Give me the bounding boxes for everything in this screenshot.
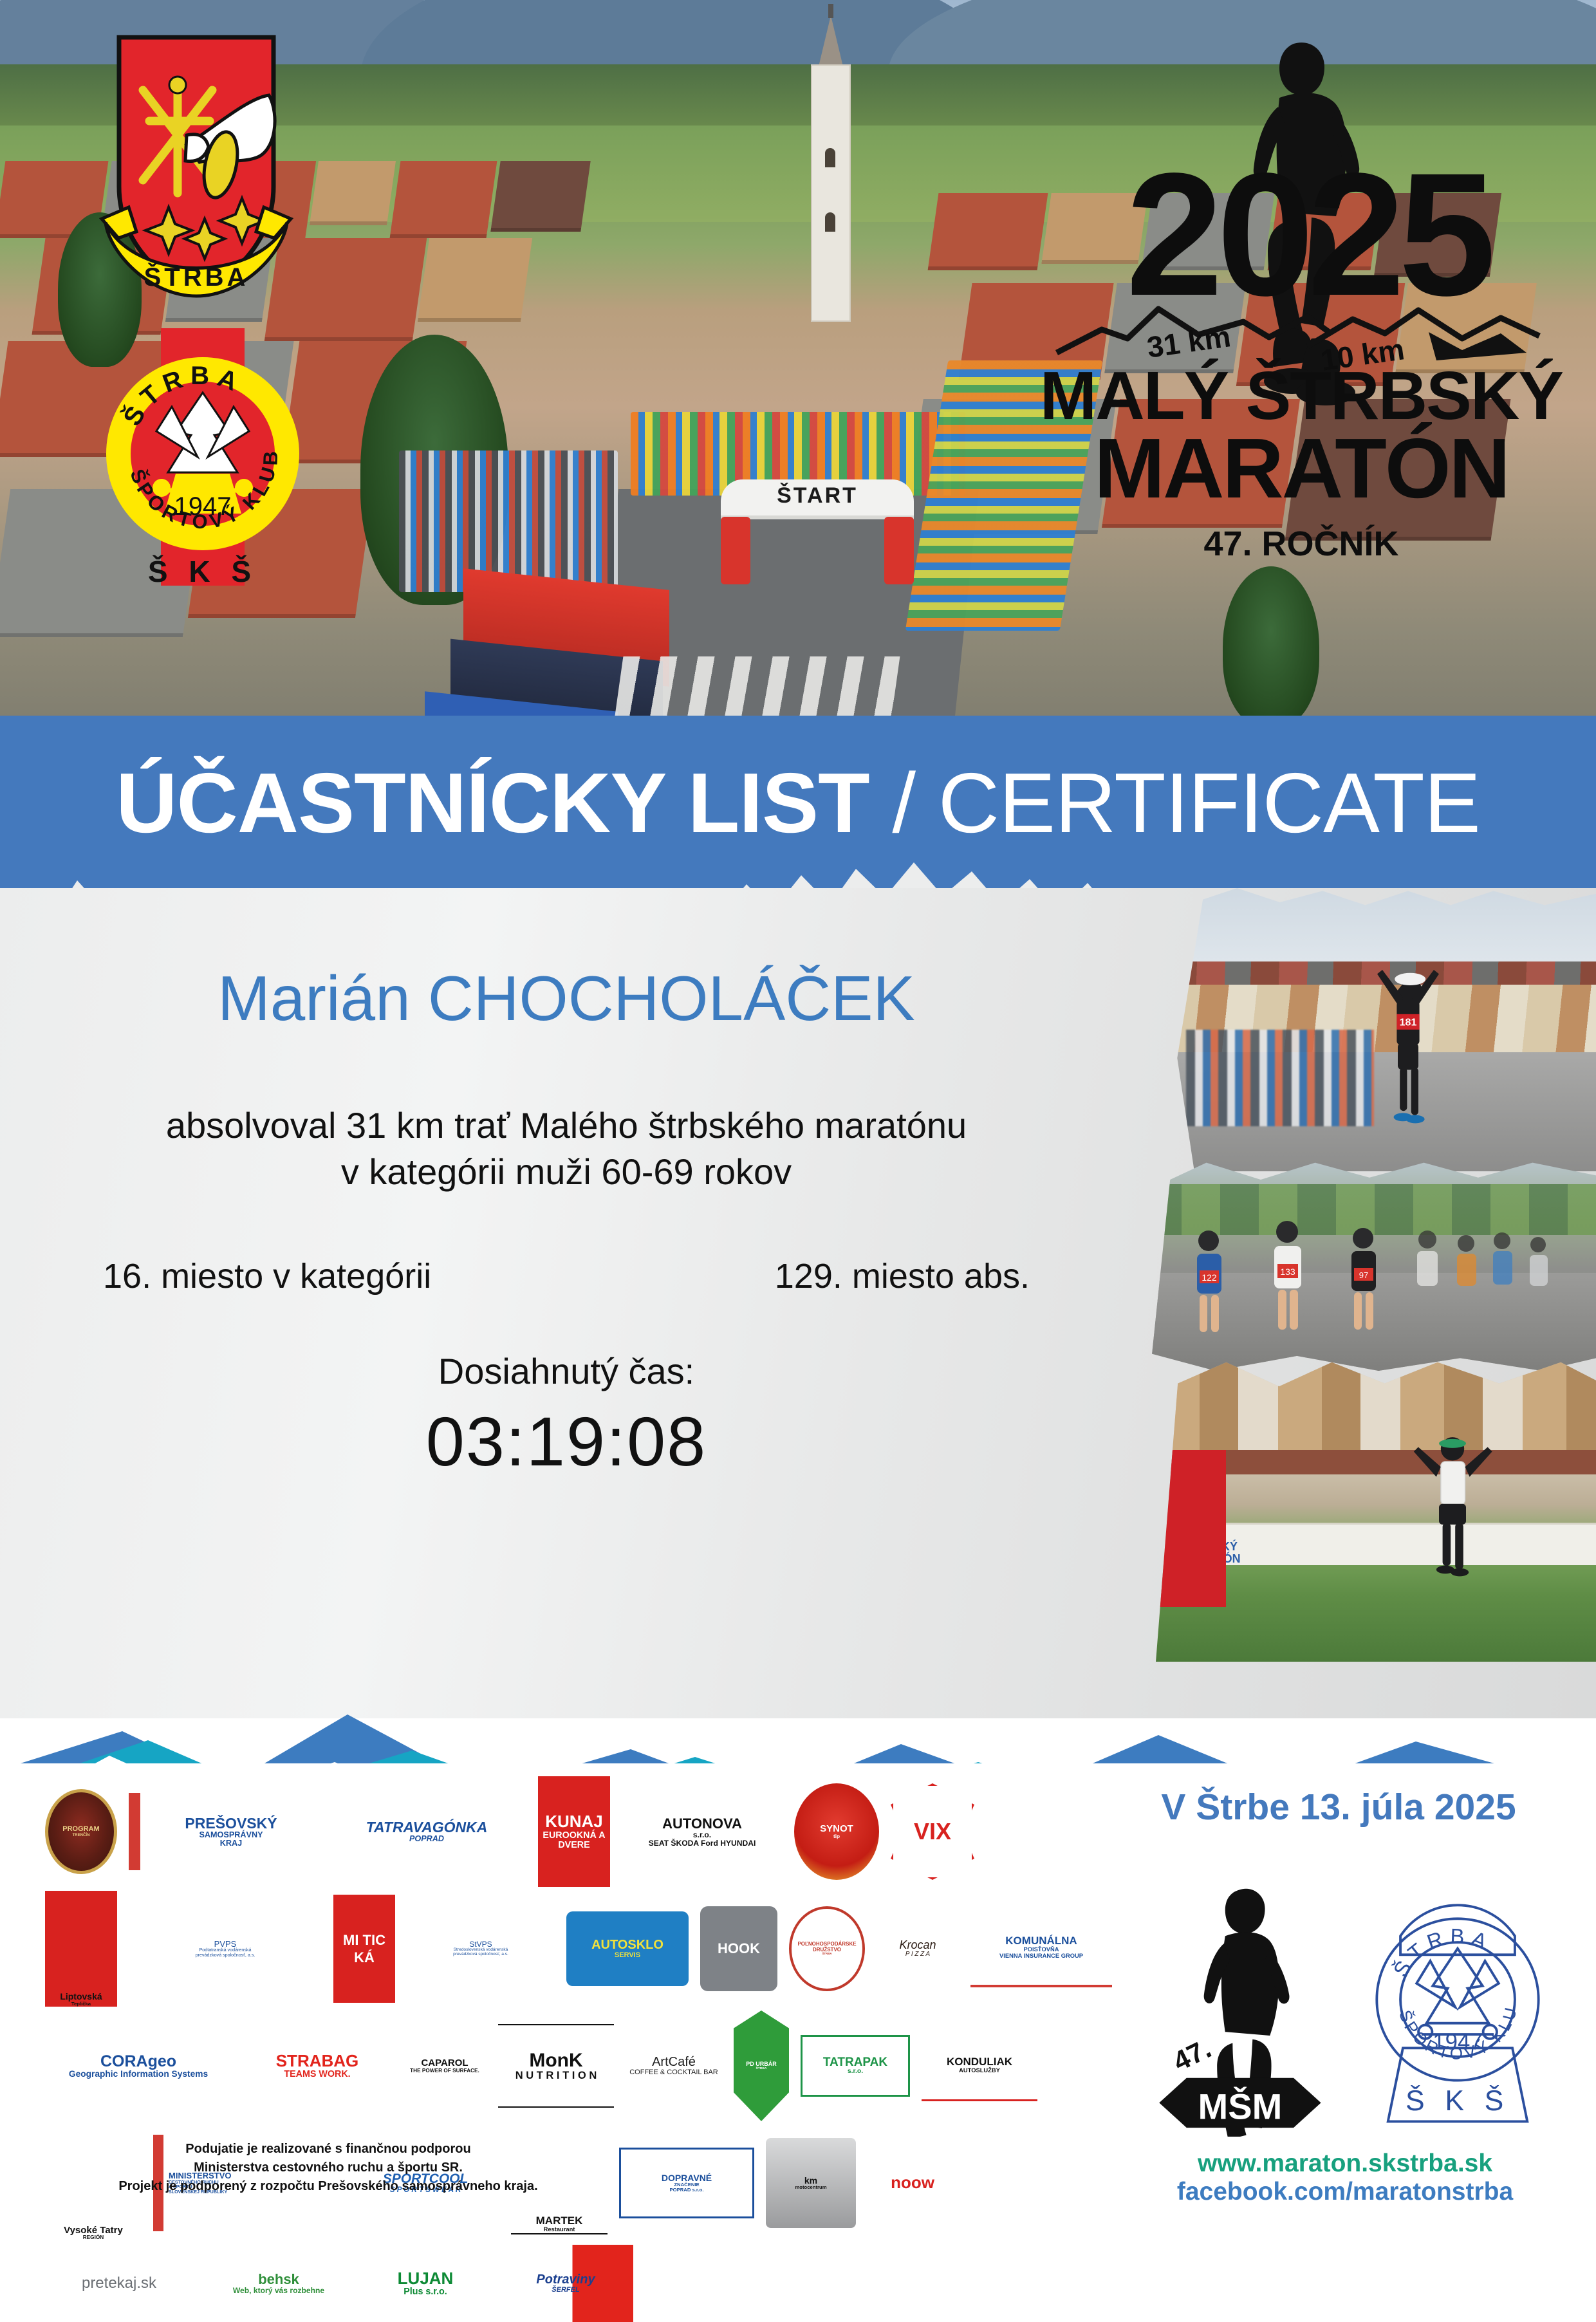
sponsor-logo-text: SAMOSPRÁVNY [199, 1831, 263, 1839]
start-arch: ŠTART [721, 479, 914, 582]
sponsor-logo-text: REGIÓN [83, 2235, 104, 2241]
disclaimer-line-1: Podujatie je realizované s finančnou pod… [39, 2140, 618, 2159]
sponsor-logo-text: prevádzková spoločnosť, a.s. [196, 1953, 255, 1958]
sponsor-logo-text: PD URBÁR [746, 2061, 777, 2067]
sponsor-logo: PotravinyŠERFEL [498, 2245, 633, 2322]
sponsor-logo-text: Potraviny [536, 2273, 595, 2287]
sponsor-logo-text: ArtCafé [652, 2056, 696, 2069]
red-flag [1156, 1450, 1226, 1607]
sponsor-logo: noow [868, 2144, 958, 2222]
event-title-line2: MARATÓN [1025, 426, 1578, 511]
sponsor-logo-text: AUTONOVA [662, 1816, 742, 1831]
sks-emblem-footer: 1947 ŠTRBA ŠPORTOVÝ KLUB Š K Š [1364, 1860, 1551, 2137]
sponsor-logo-text: THE POWER OF SURFACE. [410, 2068, 479, 2074]
sponsor-logo-text: CORAgeo [100, 2053, 176, 2070]
sponsor-row-2: LiptovskáTepličkaPVPSPodtatranská vodáre… [45, 1891, 1113, 2007]
finish-time-value: 03:19:08 [0, 1401, 1133, 1481]
sks-club-logo: 1947 ŠTRBA ŠPORTOVÝ KLUB Š K Š [100, 322, 306, 592]
svg-text:122: 122 [1202, 1272, 1217, 1283]
sponsor-logo-text: KOMUNÁLNA [1005, 1935, 1077, 1947]
sponsor-logo-text: tip [833, 1834, 840, 1840]
svg-text:Š K Š: Š K Š [148, 555, 257, 588]
sponsor-logo-text: LUJAN [398, 2270, 454, 2287]
sponsor-logo: AUTOSKLOSERVIS [566, 1911, 689, 1986]
svg-text:97: 97 [1359, 1270, 1368, 1280]
svg-text:181: 181 [1400, 1017, 1417, 1028]
sponsor-logo: StVPSStredoslovenská vodárenskáprevádzko… [407, 1900, 555, 1997]
sponsor-logo: KrocanP I Z Z A [877, 1906, 959, 1991]
sponsor-logo-text: MonK [529, 2050, 582, 2071]
start-arch-label: ŠTART [721, 483, 914, 508]
hero-photo: ŠTART [0, 0, 1596, 740]
sponsor-logo: VIX [891, 1783, 974, 1880]
photo-collage: 181 122 [1133, 882, 1596, 1725]
sponsor-logo-text: TATRAPAK [823, 2056, 887, 2069]
sponsor-row-5: pretekaj.skbehskWeb, ktorý vás rozbehneL… [45, 2245, 1113, 2322]
sponsor-logo-text: CAPAROL [421, 2058, 468, 2068]
facebook-link[interactable]: facebook.com/maratonstrba [1139, 2178, 1551, 2206]
sponsor-logo: POĽNOHOSPODÁRSKE DRUŽSTVOŠTRBA [789, 1906, 865, 1991]
sponsor-logo-text: prevádzková spoločnosť, a.s. [453, 1953, 508, 1957]
contact-links: www.maraton.skstrba.sk facebook.com/mara… [1139, 2150, 1551, 2206]
photo-female-finisher: 181 [1169, 888, 1596, 1171]
sponsor-logo-text: Liptovská [60, 1992, 102, 2002]
sponsor-logo-text: MI TIC KÁ [333, 1931, 395, 1967]
placements-row: 16. miesto v kategórii 129. miesto abs. [0, 1256, 1133, 1296]
sponsor-logo: ArtCaféCOFFEE & COCKTAIL BAR [626, 2011, 722, 2121]
certificate-description: absolvoval 31 km trať Malého štrbského m… [0, 1102, 1133, 1194]
crowd-spectators [399, 450, 618, 592]
sponsor-logo-text: noow [891, 2174, 934, 2191]
certificate-text-column: Marián CHOCHOLÁČEK absolvoval 31 km trať… [0, 965, 1133, 1481]
sponsor-logo-text: STRABAG [276, 2052, 359, 2070]
svg-text:ŠTRBA: ŠTRBA [144, 262, 249, 292]
svg-text:133: 133 [1280, 1267, 1295, 1277]
sponsor-logo: PD URBÁRŠTRBA [734, 2011, 789, 2121]
sponsor-logo-text: ŠTRBA [822, 1953, 831, 1956]
sponsor-logo: KOMUNÁLNAPOISŤOVŇAVIENNA INSURANCE GROUP [970, 1910, 1112, 1987]
photo-male-finisher: MALÝŠTRBSKÝMARATÓN [1156, 1359, 1596, 1662]
sponsor-logo-text: km [804, 2176, 817, 2186]
funding-disclaimer: Podujatie je realizované s finančnou pod… [39, 2140, 618, 2196]
church-tower [792, 19, 869, 322]
sponsor-logo-text: ŠERFEL [552, 2287, 579, 2294]
msm-emblem: 47. MŠM [1146, 1860, 1332, 2137]
footer: V Štrbe 13. júla 2025 PROGRAMTRENČÍNPREŠ… [0, 1763, 1596, 2258]
sponsor-logo-text: TRENČÍN [73, 1834, 90, 1837]
sponsor-logo-text: SYNOT [820, 1824, 853, 1834]
sponsor-logo: pretekaj.sk [45, 2248, 193, 2319]
sponsor-logo-text: COFFEE & COCKTAIL BAR [629, 2069, 718, 2077]
website-link[interactable]: www.maraton.skstrba.sk [1139, 2150, 1551, 2178]
sponsor-logo-text: AUTOSLUŽBY [959, 2068, 1000, 2074]
sponsor-logo: KUNAJEUROOKNÁ A DVERE [538, 1776, 610, 1887]
disclaimer-line-2: Ministerstva cestovného ruchu a športu S… [39, 2159, 618, 2177]
sponsor-logo: SYNOTtip [794, 1783, 879, 1880]
sponsor-logo: LiptovskáTeplička [45, 1891, 117, 2007]
sponsor-logo-text: HOOK [718, 1941, 760, 1956]
sponsor-logo-text: Web, ktorý vás rozbehne [233, 2287, 324, 2295]
sponsor-logo-text: Plus s.r.o. [404, 2287, 447, 2297]
sponsor-logo: CAPAROLTHE POWER OF SURFACE. [403, 2011, 487, 2121]
sponsor-logo-text: DOPRAVNÉ [662, 2173, 712, 2183]
sponsor-logo-text: KUNAJ [545, 1813, 603, 1830]
event-edition: 47. ROČNÍK [1025, 524, 1578, 564]
sponsor-logo-text: Restaurant [544, 2227, 575, 2233]
sponsor-logo: TATRAVAGÓNKAPOPRAD [327, 1794, 526, 1870]
place-absolute: 129. miesto abs. [775, 1256, 1030, 1296]
sponsor-logo-text: EUROOKNÁ A DVERE [538, 1831, 610, 1850]
sponsor-logo-text: VIENNA INSURANCE GROUP [999, 1953, 1083, 1960]
sponsor-logo-text: Geographic Information Systems [69, 2070, 208, 2079]
sponsor-logo: CORAgeoGeographic Information Systems [45, 2027, 232, 2104]
sponsor-logo: LUJANPlus s.r.o. [364, 2245, 487, 2322]
sks-abbr-footer: Š K Š [1406, 2085, 1510, 2117]
sponsor-logo-text: s.r.o. [693, 1831, 711, 1839]
sponsor-logo: kmmotocentrum [766, 2138, 856, 2228]
sponsor-logo-text: VIX [914, 1819, 951, 1844]
sponsor-logo-text: N U T R I T I O N [515, 2070, 597, 2081]
sponsor-logo-text: PROGRAM [62, 1826, 99, 1834]
sponsor-logo: PROGRAMTRENČÍN [45, 1789, 117, 1874]
description-line-1: absolvoval 31 km trať Malého štrbského m… [0, 1102, 1133, 1149]
sponsor-logo: PVPSPodtatranská vodárenskáprevádzková s… [129, 1910, 322, 1987]
sponsor-row-3: CORAgeoGeographic Information SystemsSTR… [45, 2011, 1113, 2121]
sponsor-logo-text: TEAMS WORK. [284, 2070, 350, 2079]
sponsor-logo-text: Krocan [899, 1939, 936, 1951]
photo-runner-group: 122 133 97 [1143, 1158, 1596, 1371]
participant-name: Marián CHOCHOLÁČEK [0, 965, 1133, 1032]
sponsor-logo-text: PVPS [214, 1940, 237, 1949]
sponsor-logo: TATRAPAKs.r.o. [801, 2035, 910, 2097]
sponsor-logo-text: POPRAD s.r.o. [670, 2187, 704, 2193]
strba-coat-of-arms: ŠTRBA [90, 26, 302, 302]
event-year: 2025 [1057, 156, 1559, 313]
title-separator: / [869, 756, 938, 850]
page-title: ÚČASTNÍCKY LIST / CERTIFICATE [0, 761, 1596, 846]
sponsor-logo: KONDULIAKAUTOSLUŽBY [922, 2030, 1037, 2101]
sponsor-logo-text: s.r.o. [848, 2068, 863, 2076]
msm-abbr: MŠM [1198, 2086, 1283, 2127]
sponsor-logo-text: ŠTRBA [756, 2067, 766, 2070]
sponsor-logo-text: KRAJ [220, 1839, 242, 1848]
sponsor-row-1: PROGRAMTRENČÍNPREŠOVSKÝSAMOSPRÁVNYKRAJTA… [45, 1776, 1113, 1887]
footer-emblems: 47. MŠM 1947 ŠTRBA [1139, 1860, 1551, 2156]
sponsor-logo-text: behsk [258, 2272, 299, 2287]
sponsor-logo-grid: PROGRAMTRENČÍNPREŠOVSKÝSAMOSPRÁVNYKRAJTA… [45, 1776, 1113, 2188]
event-logo: 2025 31 km 10 km MALÝ ŠTRBSKÝ MARATÓN 47… [1025, 33, 1578, 600]
sponsor-logo-text: TATRAVAGÓNKA [366, 1819, 488, 1835]
sponsor-logo: MI TIC KÁ [333, 1895, 395, 2003]
sponsor-logo-text: SEAT ŠKODA Ford HYUNDAI [649, 1839, 756, 1848]
description-line-2: v kategórii muži 60-69 rokov [0, 1149, 1133, 1195]
sponsor-logo: DOPRAVNÉZNAČENIEPOPRAD s.r.o. [619, 2148, 754, 2218]
sponsor-logo-text: SERVIS [615, 1952, 640, 1960]
sponsor-logo-text: POĽNOHOSPODÁRSKE DRUŽSTVO [792, 1942, 862, 1953]
sponsor-logo-text: P I Z Z A [905, 1951, 930, 1958]
title-bold: ÚČASTNÍCKY LIST [116, 756, 869, 850]
place-and-date: V Štrbe 13. júla 2025 [1133, 1786, 1545, 1828]
sponsor-logo: AUTONOVAs.r.o.SEAT ŠKODA Ford HYUNDAI [622, 1777, 783, 1886]
title-regular: CERTIFICATE [938, 756, 1480, 850]
sponsor-logo-text: AUTOSKLO [591, 1938, 663, 1952]
sponsor-logo: MonKN U T R I T I O N [498, 2024, 614, 2108]
sponsor-logo: behskWeb, ktorý vás rozbehne [205, 2248, 353, 2319]
sponsor-logo-text: pretekaj.sk [82, 2275, 156, 2291]
msm-edition-number: 47. [1169, 2033, 1216, 2077]
sponsor-logo: PREŠOVSKÝSAMOSPRÁVNYKRAJ [129, 1793, 315, 1870]
sponsor-logo: HOOK [700, 1906, 777, 1991]
sponsor-logo-text: KONDULIAK [947, 2056, 1012, 2068]
finish-time-label: Dosiahnutý čas: [0, 1350, 1133, 1392]
sponsor-logo-text: POPRAD [409, 1835, 444, 1843]
sponsor-logo-text: motocentrum [795, 2185, 826, 2190]
place-in-category: 16. miesto v kategórii [103, 1256, 431, 1296]
sponsor-logo-text: Vysoké Tatry [64, 2225, 123, 2236]
sponsor-logo: STRABAGTEAMS WORK. [243, 2028, 391, 2104]
event-title-line1: MALÝ ŠTRBSKÝ [1025, 362, 1578, 430]
sponsor-logo-text: MARTEK [536, 2215, 583, 2227]
disclaimer-line-3: Projekt je podporený z rozpočtu Prešovsk… [39, 2177, 618, 2196]
sponsor-logo-text: PREŠOVSKÝ [185, 1816, 277, 1831]
sponsor-logo-text: Teplička [71, 2002, 91, 2007]
